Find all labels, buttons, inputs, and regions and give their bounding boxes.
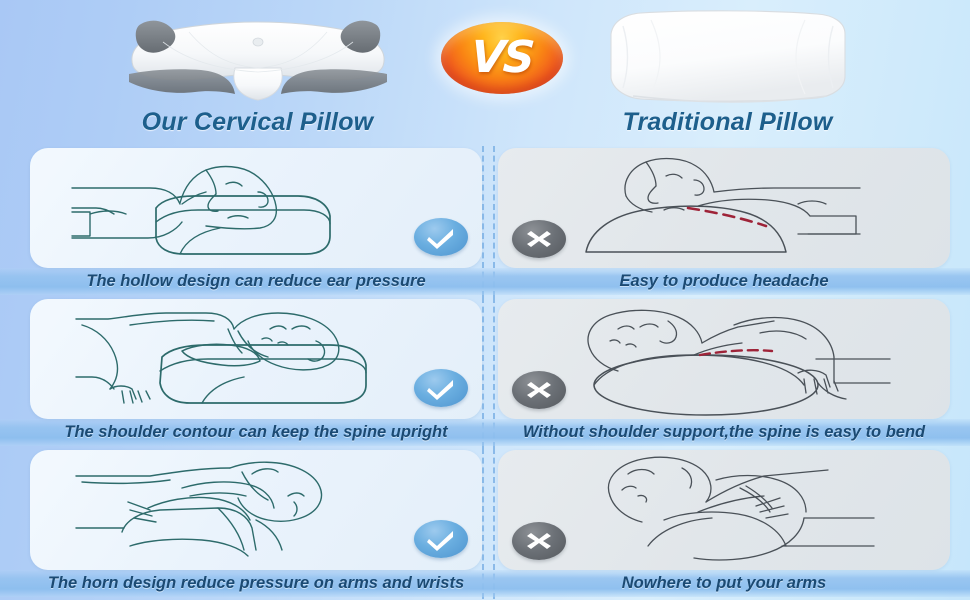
cross-icon [522,378,556,402]
row2-good-illustration [30,299,482,419]
hero-column-cervical: Our Cervical Pillow [30,0,485,146]
row2-bad-panel [498,299,950,419]
cross-icon [522,227,556,251]
cervical-pillow-title: Our Cervical Pillow [30,108,485,137]
row2-cross-badge [512,371,566,409]
row3-cross-badge [512,522,566,560]
row1-bad-caption: Easy to produce headache [498,268,950,295]
row1-good-panel [30,148,482,268]
comparison-row-1: The hollow design can reduce ear pressur… [0,146,970,297]
row2-caption-band: The shoulder contour can keep the spine … [0,419,970,446]
check-icon [424,376,458,400]
neck-strain-line [688,208,766,226]
comparison-rows: The hollow design can reduce ear pressur… [0,146,970,599]
row3-caption-band: The horn design reduce pressure on arms … [0,570,970,597]
row2-bad-illustration [498,299,950,419]
check-icon [424,225,458,249]
row3-bad-illustration [498,450,950,570]
row3-good-panel [30,450,482,570]
comparison-row-2: The shoulder contour can keep the spine … [0,297,970,448]
hero-section: Our Cervical Pillow VS [0,0,970,146]
cervical-pillow-image-wrap [30,2,485,108]
comparison-infographic: Our Cervical Pillow VS [0,0,970,600]
traditional-pillow-photo [593,6,863,106]
row1-good-illustration [30,148,482,268]
row1-good-caption: The hollow design can reduce ear pressur… [30,268,482,295]
row2-good-panel [30,299,482,419]
check-icon [424,527,458,551]
cervical-pillow-photo [93,8,423,106]
row1-bad-illustration [498,148,950,268]
row1-cross-badge [512,220,566,258]
row2-good-caption: The shoulder contour can keep the spine … [30,419,482,446]
row3-bad-panel [498,450,950,570]
row3-good-caption: The horn design reduce pressure on arms … [30,570,482,597]
traditional-pillow-image-wrap [500,2,955,108]
row3-check-badge [414,520,468,558]
row1-check-badge [414,218,468,256]
row2-check-badge [414,369,468,407]
row2-bad-caption: Without shoulder support,the spine is ea… [498,419,950,446]
row1-caption-band: The hollow design can reduce ear pressur… [0,268,970,295]
row3-good-illustration [30,450,482,570]
row3-bad-caption: Nowhere to put your arms [498,570,950,597]
comparison-row-3: The horn design reduce pressure on arms … [0,448,970,599]
row1-bad-panel [498,148,950,268]
hero-column-traditional: Traditional Pillow [500,0,955,146]
traditional-pillow-title: Traditional Pillow [500,108,955,137]
cross-icon [522,529,556,553]
